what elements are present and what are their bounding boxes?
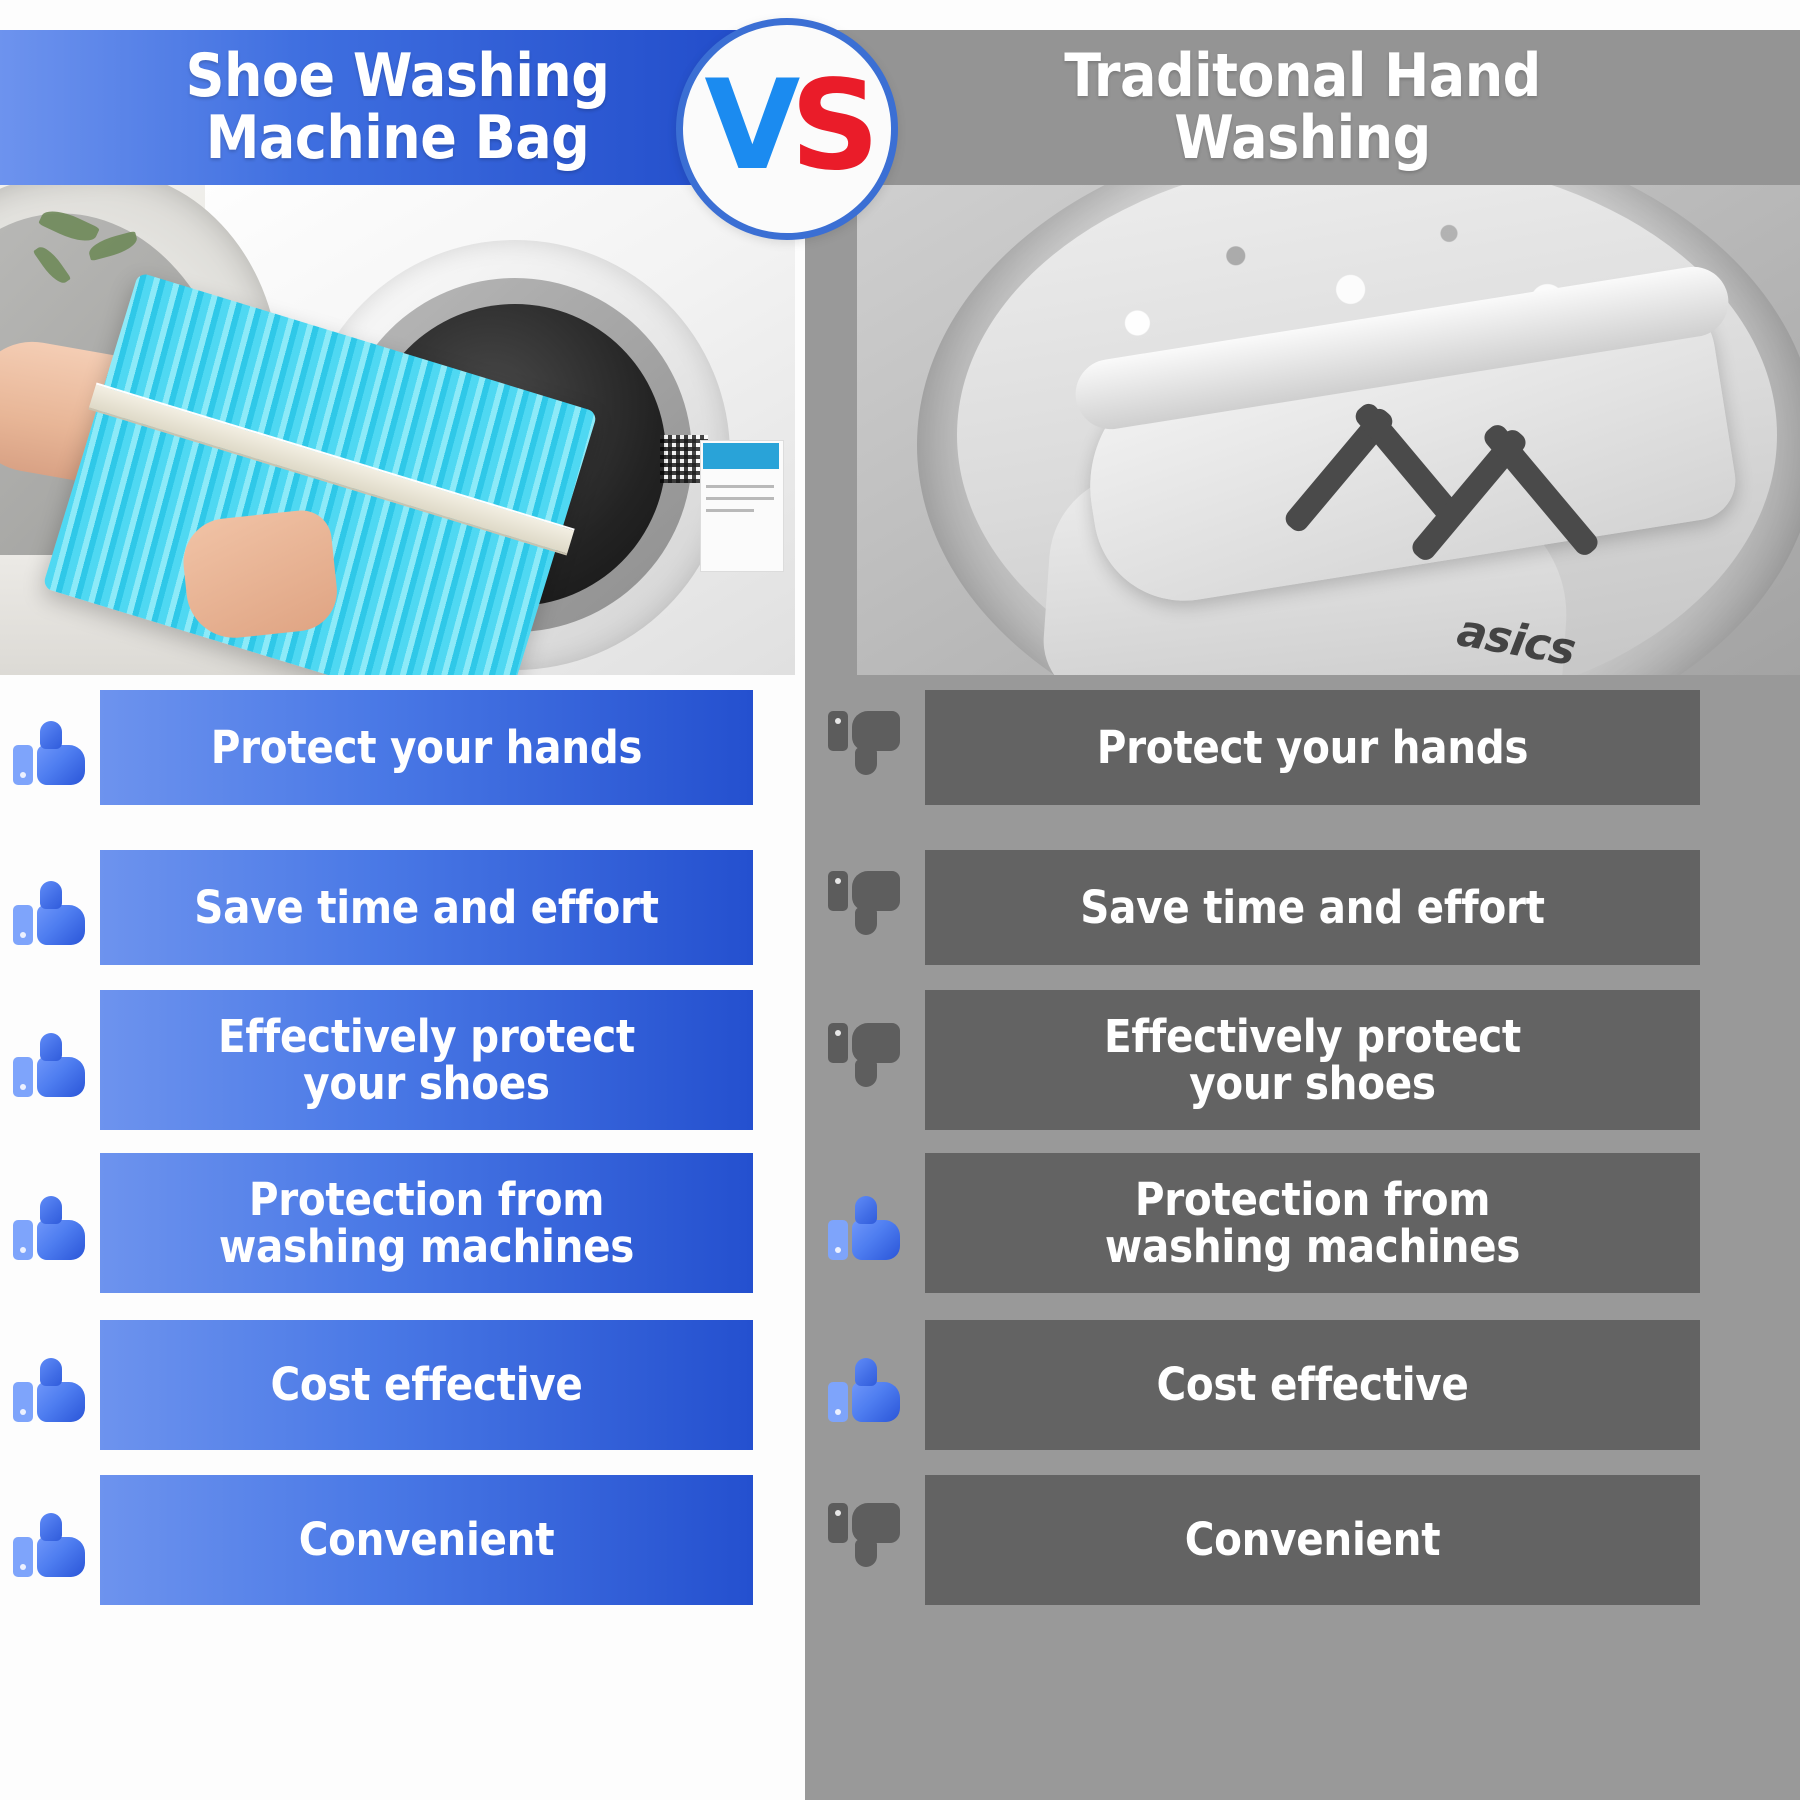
feature-row[interactable]: Protect your hands <box>805 690 1800 805</box>
person-hand <box>179 507 341 642</box>
versus-badge: VS <box>676 18 898 240</box>
thumbs-up-icon <box>13 871 87 945</box>
feature-bar[interactable]: Cost effective <box>925 1320 1700 1450</box>
feature-label-line2: washing machines <box>1105 1223 1520 1270</box>
left-title-line2: Machine Bag <box>146 108 650 170</box>
right-column-header: Traditonal Hand Washing <box>805 30 1800 185</box>
feature-icon-slot <box>805 711 925 785</box>
feature-bar[interactable]: Convenient <box>925 1475 1700 1605</box>
left-product-photo <box>0 185 795 675</box>
feature-label-line1: Cost effective <box>1156 1361 1468 1408</box>
feature-label-line1: Save time and effort <box>1080 884 1544 931</box>
versus-text: VS <box>704 64 869 188</box>
label-text-line <box>706 497 774 500</box>
thumbs-down-icon <box>828 711 902 785</box>
left-title-line1: Shoe Washing <box>146 46 650 108</box>
feature-label-line2: your shoes <box>218 1060 635 1107</box>
feature-row[interactable]: Effectively protect your shoes <box>0 990 795 1130</box>
feature-row[interactable]: Cost effective <box>0 1320 795 1450</box>
feature-icon-slot <box>0 1503 100 1577</box>
thumbs-up-icon <box>828 1348 902 1422</box>
feature-bar[interactable]: Effectively protect your shoes <box>100 990 753 1130</box>
feature-bar[interactable]: Protection from washing machines <box>925 1153 1700 1293</box>
feature-bar[interactable]: Protect your hands <box>925 690 1700 805</box>
thumbs-up-icon <box>13 1348 87 1422</box>
feature-row[interactable]: Save time and effort <box>805 850 1800 965</box>
left-column-header: Shoe Washing Machine Bag <box>0 30 795 185</box>
thumbs-up-icon <box>13 1023 87 1097</box>
versus-s-letter: S <box>790 54 869 198</box>
label-text-line <box>706 485 774 488</box>
feature-row[interactable]: Effectively protect your shoes <box>805 990 1800 1130</box>
feature-label-line2: your shoes <box>1104 1060 1521 1107</box>
right-title-line1: Traditonal Hand <box>1024 46 1581 108</box>
right-comparison-photo: asics <box>857 185 1800 675</box>
feature-icon-slot <box>0 1348 100 1422</box>
feature-icon-slot <box>805 1023 925 1097</box>
right-title-line2: Washing <box>1024 108 1581 170</box>
feature-label-line1: Protection from <box>1105 1176 1520 1223</box>
feature-row[interactable]: Protection from washing machines <box>805 1153 1800 1293</box>
feature-row[interactable]: Protect your hands <box>0 690 795 805</box>
thumbs-down-icon <box>828 871 902 945</box>
feature-label-line2: washing machines <box>219 1223 634 1270</box>
feature-label-line1: Effectively protect <box>1104 1013 1521 1060</box>
comparison-infographic: Shoe Washing Machine Bag Traditonal Hand… <box>0 0 1800 1800</box>
feature-icon-slot <box>805 1503 925 1577</box>
feature-bar[interactable]: Save time and effort <box>925 850 1700 965</box>
feature-bar[interactable]: Convenient <box>100 1475 753 1605</box>
left-feature-list: Protect your hands Save time and effort <box>0 675 795 1800</box>
feature-bar[interactable]: Effectively protect your shoes <box>925 990 1700 1130</box>
feature-row[interactable]: Cost effective <box>805 1320 1800 1450</box>
feature-icon-slot <box>0 1023 100 1097</box>
feature-icon-slot <box>805 871 925 945</box>
bag-zipper <box>88 383 574 556</box>
feature-icon-slot <box>0 1186 100 1260</box>
right-feature-list: Protect your hands Save time and effort <box>805 675 1800 1800</box>
feature-label-line1: Convenient <box>1185 1516 1441 1563</box>
feature-icon-slot <box>0 871 100 945</box>
feature-label-line1: Protect your hands <box>211 724 642 771</box>
feature-row[interactable]: Save time and effort <box>0 850 795 965</box>
feature-row[interactable]: Convenient <box>0 1475 795 1605</box>
feature-bar[interactable]: Protection from washing machines <box>100 1153 753 1293</box>
feature-icon-slot <box>0 711 100 785</box>
feature-icon-slot <box>805 1348 925 1422</box>
feature-row[interactable]: Convenient <box>805 1475 1800 1605</box>
feature-bar[interactable]: Cost effective <box>100 1320 753 1450</box>
feature-label-line1: Convenient <box>299 1516 555 1563</box>
feature-row[interactable]: Protection from washing machines <box>0 1153 795 1293</box>
feature-bar[interactable]: Save time and effort <box>100 850 753 965</box>
thumbs-up-icon <box>828 1186 902 1260</box>
feature-label-line1: Cost effective <box>270 1361 582 1408</box>
energy-label-band <box>703 443 779 469</box>
feature-label-line1: Protect your hands <box>1097 724 1528 771</box>
thumbs-down-icon <box>828 1503 902 1577</box>
thumbs-down-icon <box>828 1023 902 1097</box>
thumbs-up-icon <box>13 1503 87 1577</box>
feature-label-line1: Save time and effort <box>194 884 658 931</box>
feature-bar[interactable]: Protect your hands <box>100 690 753 805</box>
thumbs-up-icon <box>13 711 87 785</box>
feature-label-line1: Effectively protect <box>218 1013 635 1060</box>
thumbs-up-icon <box>13 1186 87 1260</box>
label-text-line <box>706 509 754 512</box>
feature-icon-slot <box>805 1186 925 1260</box>
feature-label-line1: Protection from <box>219 1176 634 1223</box>
versus-v-letter: V <box>704 54 790 198</box>
